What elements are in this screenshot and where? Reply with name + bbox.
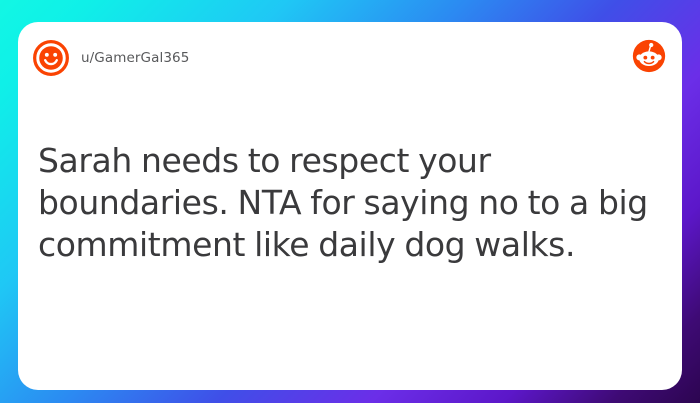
username-label: u/GamerGal365 [81, 50, 189, 66]
smiley-face-icon [32, 39, 70, 77]
reddit-snoo-icon[interactable] [632, 39, 666, 73]
post-body-text: Sarah needs to respect your boundaries. … [38, 140, 660, 266]
card-header: u/GamerGal365 [18, 22, 682, 94]
screenshot-canvas: u/GamerGal365 Sarah needs to respect you… [0, 0, 700, 403]
user-identity-block[interactable]: u/GamerGal365 [32, 39, 189, 77]
reddit-comment-card: u/GamerGal365 Sarah needs to respect you… [18, 22, 682, 390]
